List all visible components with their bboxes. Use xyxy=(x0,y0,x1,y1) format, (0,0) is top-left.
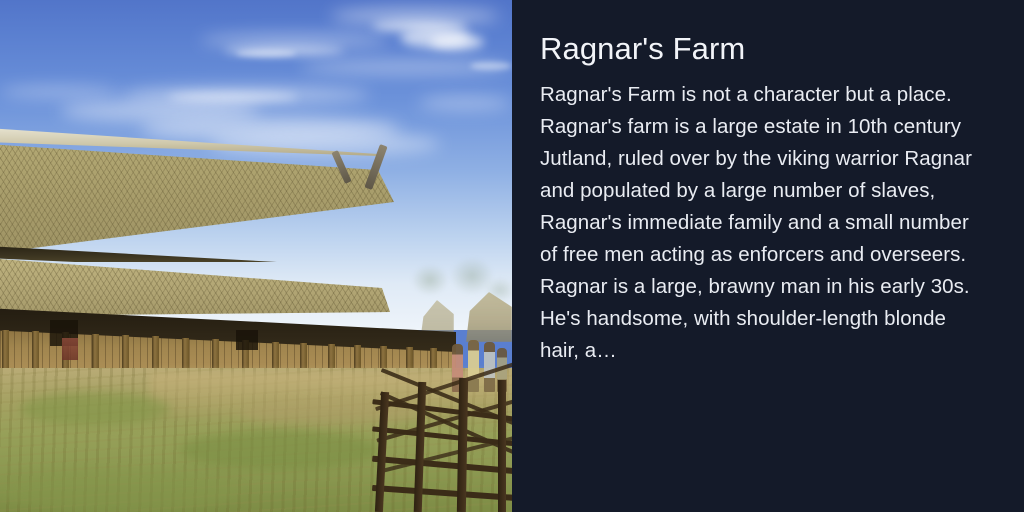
cloud-wisp xyxy=(200,34,390,47)
illustration-image xyxy=(0,0,512,512)
page-title: Ragnar's Farm xyxy=(540,30,990,68)
thatched-roof-upper xyxy=(0,136,416,268)
cloud-wisp xyxy=(0,86,120,98)
grass-patch xyxy=(180,430,380,470)
cloud-wisp xyxy=(470,62,512,70)
cloud-puff xyxy=(430,34,484,50)
grass-patch xyxy=(20,392,170,426)
cloud-wisp xyxy=(236,50,296,57)
split-rail-fence xyxy=(372,378,512,512)
grass-patch xyxy=(0,470,240,512)
description-text: Ragnar's Farm is not a character but a p… xyxy=(540,79,990,367)
fence-post xyxy=(498,380,506,512)
hanging-cloth xyxy=(62,338,78,360)
doorway-opening xyxy=(236,330,258,350)
cloud-wisp xyxy=(418,96,512,110)
eave-shadow xyxy=(0,246,416,262)
character-info-card: Ragnar's Farm Ragnar's Farm is not a cha… xyxy=(0,0,1024,512)
fence-rail xyxy=(372,485,512,501)
info-panel: Ragnar's Farm Ragnar's Farm is not a cha… xyxy=(512,0,1024,512)
